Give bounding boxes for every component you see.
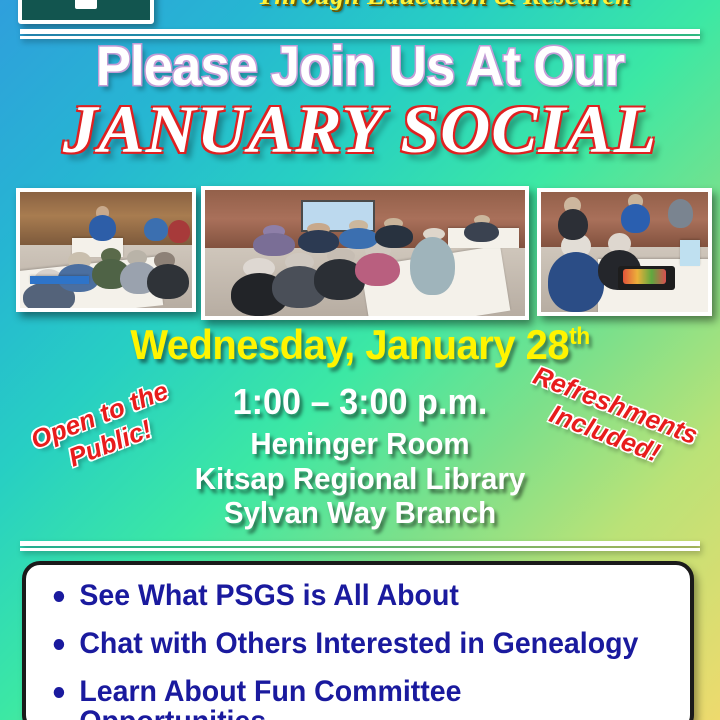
bullet-dot-icon	[54, 687, 64, 698]
list-item-label: Learn About Fun Committee Opportunities	[79, 677, 648, 720]
venue-branch: Sylvan Way Branch	[18, 497, 702, 528]
event-photo-1	[16, 188, 196, 312]
event-photo-2	[201, 186, 529, 320]
list-item: See What PSGS is All About	[48, 581, 648, 611]
event-date-text: Wednesday, January 28	[130, 321, 569, 368]
venue-library: Kitsap Regional Library	[18, 463, 702, 494]
page-headline: Please Join Us At Our	[22, 38, 699, 94]
psgs-logo	[18, 0, 154, 24]
bullet-dot-icon	[54, 591, 64, 602]
list-item-label: Chat with Others Interested in Genealogy	[79, 629, 638, 659]
event-date: Wednesday, January 28th	[18, 324, 702, 366]
list-item-label: See What PSGS is All About	[79, 581, 459, 611]
logo-mark-icon	[75, 0, 97, 9]
divider-rule-bottom	[20, 541, 700, 551]
bullet-dot-icon	[54, 639, 64, 650]
highlights-box: See What PSGS is All About Chat with Oth…	[22, 561, 694, 720]
event-title: JANUARY SOCIAL	[0, 95, 720, 163]
tagline: Through Education & Research	[214, 0, 674, 11]
list-item: Learn About Fun Committee Opportunities	[48, 677, 648, 720]
event-date-ordinal: th	[569, 323, 590, 350]
flyer-poster: Through Education & Research Please Join…	[0, 0, 720, 720]
event-photo-3	[537, 188, 712, 316]
list-item: Chat with Others Interested in Genealogy	[48, 629, 648, 659]
